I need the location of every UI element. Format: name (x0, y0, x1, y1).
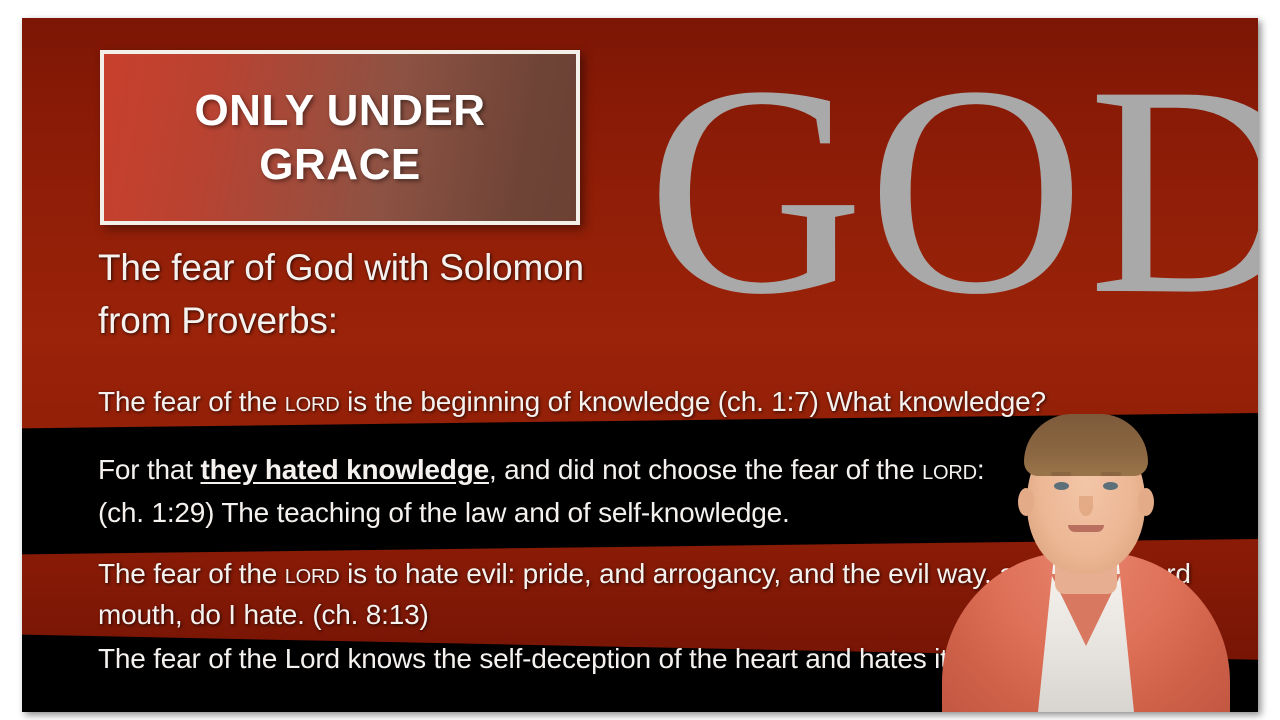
title-text: ONLY UNDER GRACE (104, 84, 576, 191)
scripture-paragraph-2: For that they hated knowledge, and did n… (98, 448, 1208, 535)
slide-frame: GOD ONLY UNDER GRACE The fear of God wit… (0, 0, 1280, 720)
para3-part-a: The fear of the (98, 558, 285, 589)
scripture-paragraph-4: The fear of the Lord knows the self-dece… (98, 640, 1228, 678)
para2-part-d: (ch. 1:29) The teaching of the law and o… (98, 497, 790, 528)
para2-part-c: : (977, 454, 985, 485)
scripture-paragraph-3: The fear of the Lord is to hate evil: pr… (98, 554, 1228, 635)
subtitle-text: The fear of God with Solomon from Prover… (98, 242, 638, 347)
god-watermark-text: GOD (647, 40, 1237, 340)
para3-lord-smallcaps: Lord (285, 558, 340, 589)
para2-emphasized-phrase: they hated knowledge (200, 454, 489, 485)
para1-part-b: is the beginning of knowledge (ch. 1:7) … (339, 386, 1045, 417)
para2-lord-smallcaps: Lord (922, 454, 977, 485)
para1-lord-smallcaps: Lord (285, 386, 340, 417)
presentation-slide: GOD ONLY UNDER GRACE The fear of God wit… (22, 18, 1258, 712)
para2-part-a: For that (98, 454, 200, 485)
para1-part-a: The fear of the (98, 386, 285, 417)
scripture-paragraph-1: The fear of the Lord is the beginning of… (98, 384, 1208, 421)
para2-part-b: , and did not choose the fear of the (489, 454, 922, 485)
title-banner: ONLY UNDER GRACE (100, 50, 580, 225)
